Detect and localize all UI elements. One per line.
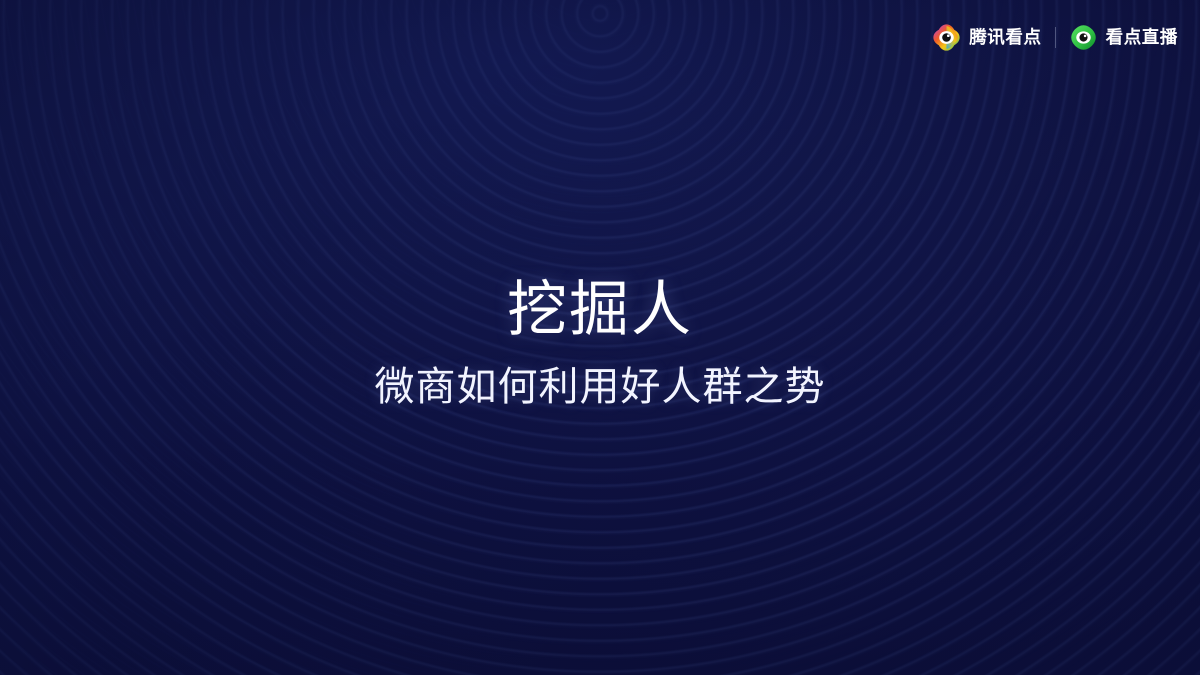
brand-label-tencent-kandian: 腾讯看点 [969,29,1041,47]
brand-divider [1055,27,1056,48]
kandian-live-eye-icon [1069,23,1098,52]
slide-title: 挖掘人 [0,278,1200,341]
brand-kandian-live[interactable]: 看点直播 [1069,23,1178,52]
tencent-kandian-eye-icon [932,23,961,52]
brand-label-kandian-live: 看点直播 [1106,29,1178,47]
brand-logo-bar: 腾讯看点 看点直 [932,23,1178,52]
title-block: 挖掘人 微商如何利用好人群之势 [0,278,1200,411]
presentation-slide: 腾讯看点 看点直 [0,0,1200,675]
brand-tencent-kandian[interactable]: 腾讯看点 [932,23,1041,52]
slide-subtitle: 微商如何利用好人群之势 [0,363,1200,411]
